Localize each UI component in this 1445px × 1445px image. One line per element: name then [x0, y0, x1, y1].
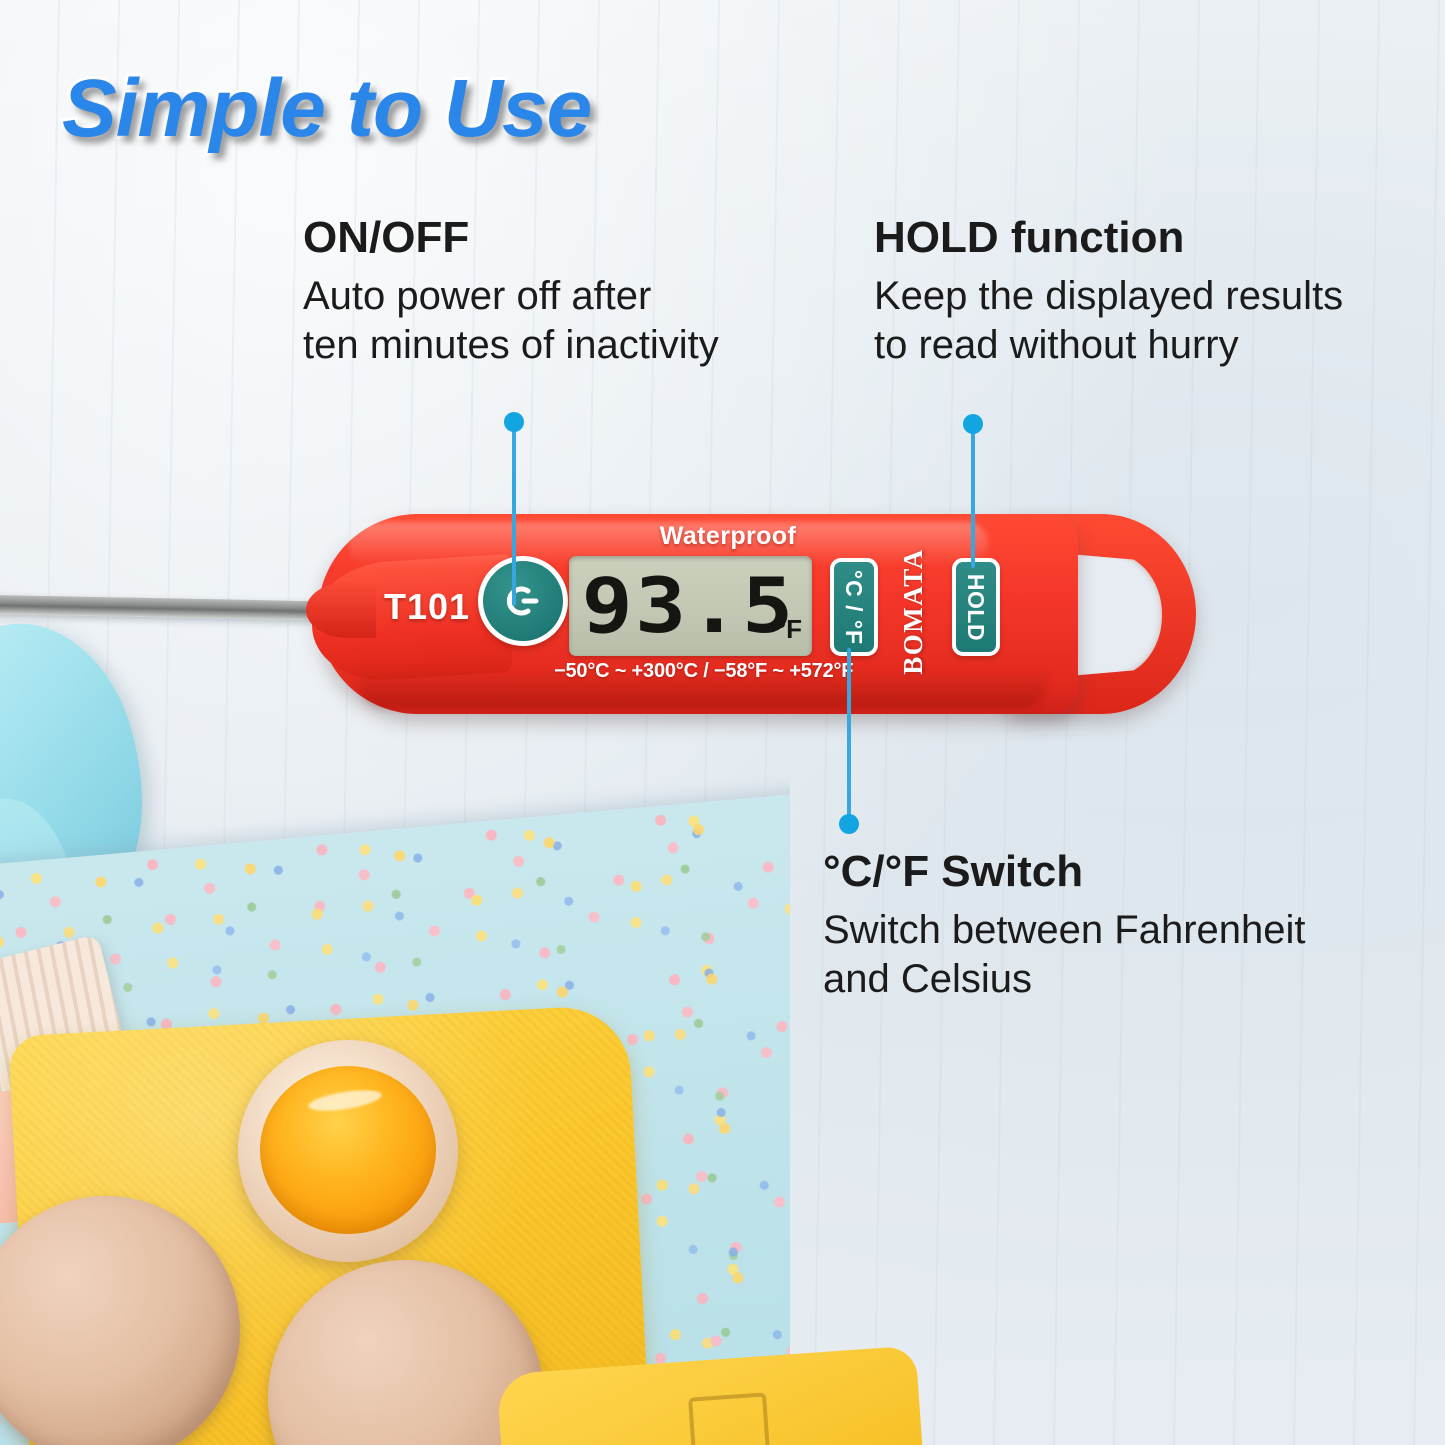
brand-text: BOMATA	[898, 548, 929, 675]
callout-cf-switch: °C/°F Switch Switch between Fahrenheit a…	[823, 848, 1306, 1005]
callout-onoff: ON/OFF Auto power off after ten minutes …	[303, 214, 719, 371]
hold-button[interactable]: HOLD	[952, 558, 1000, 656]
leader-line-onoff	[512, 424, 516, 606]
leader-line-hold	[971, 428, 975, 568]
power-icon	[503, 581, 543, 621]
callout-heading: HOLD function	[874, 214, 1343, 262]
lcd-value: 93.5	[582, 568, 796, 644]
waterproof-label: Waterproof	[618, 522, 838, 551]
measuring-range-label: −50°C ~ +300°C / −58°F ~ +572°F	[554, 660, 832, 683]
callout-line: and Celsius	[823, 955, 1306, 1005]
callout-line: Switch between Fahrenheit	[823, 906, 1306, 956]
leader-dot-hold	[963, 414, 983, 434]
power-button[interactable]	[478, 556, 568, 646]
model-label: T101	[384, 586, 470, 628]
infographic-stage: Simple to Use T101	[0, 0, 1445, 1445]
brand-label: BOMATA	[863, 556, 963, 666]
callout-body: Auto power off after ten minutes of inac…	[303, 272, 719, 371]
thermometer-device: T101 Waterproof 93.5 °F −50°C ~ +300°C /…	[318, 508, 1198, 723]
callout-body: Keep the displayed results to read witho…	[874, 272, 1343, 371]
callout-hold: HOLD function Keep the displayed results…	[874, 214, 1343, 371]
leader-line-cf	[847, 648, 851, 824]
callout-heading: °C/°F Switch	[823, 848, 1306, 896]
leader-dot-onoff	[504, 412, 524, 432]
lcd-unit: °F	[776, 616, 802, 642]
callout-line: ten minutes of inactivity	[303, 321, 719, 371]
yellow-sheet-mark	[688, 1392, 770, 1445]
callout-line: Keep the displayed results	[874, 272, 1343, 322]
callout-body: Switch between Fahrenheit and Celsius	[823, 906, 1306, 1005]
lcd-display: 93.5 °F	[569, 556, 812, 656]
hold-button-label: HOLD	[963, 573, 990, 640]
callout-heading: ON/OFF	[303, 214, 719, 262]
egg-yolk	[260, 1066, 436, 1234]
callout-line: to read without hurry	[874, 321, 1343, 371]
page-title: Simple to Use	[62, 62, 591, 156]
cracked-egg	[238, 1040, 458, 1262]
leader-dot-cf	[839, 814, 859, 834]
callout-line: Auto power off after	[303, 272, 719, 322]
kitchen-photo	[0, 620, 790, 1445]
